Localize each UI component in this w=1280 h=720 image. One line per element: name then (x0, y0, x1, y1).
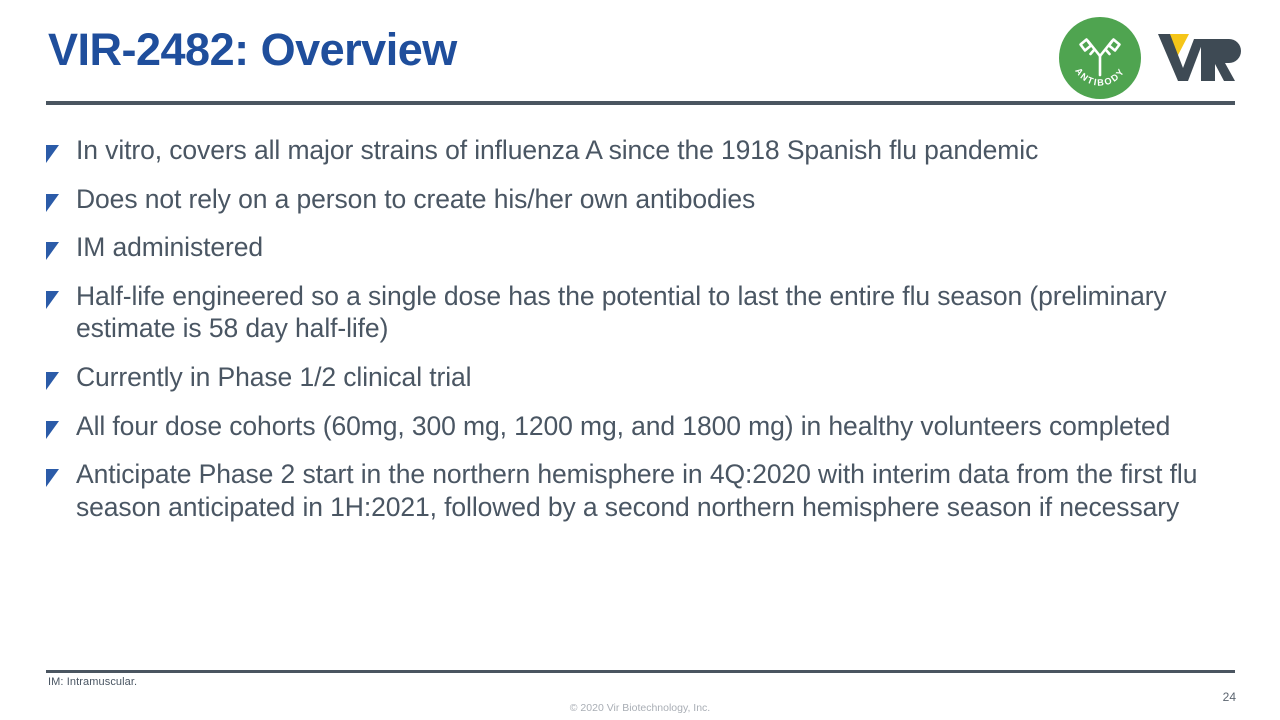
footnote-text: IM: Intramuscular. (48, 676, 137, 688)
slide-canvas: VIR-2482: Overview (0, 0, 1280, 720)
header-divider (46, 101, 1235, 105)
bullet-triangle-icon (46, 421, 62, 442)
page-title: VIR-2482: Overview (48, 26, 457, 73)
bullet-triangle-icon (46, 372, 62, 393)
footer-divider (46, 670, 1235, 673)
list-item: Currently in Phase 1/2 clinical trial (46, 361, 1236, 394)
brand-logo-lockup: ANTIBODY (1058, 16, 1238, 100)
list-item: In vitro, covers all major strains of in… (46, 134, 1236, 167)
bullet-triangle-icon (46, 291, 62, 312)
list-item: All four dose cohorts (60mg, 300 mg, 120… (46, 410, 1236, 443)
list-item: Anticipate Phase 2 start in the northern… (46, 458, 1236, 523)
bullet-list: In vitro, covers all major strains of in… (46, 134, 1236, 539)
bullet-triangle-icon (46, 469, 62, 490)
antibody-badge-icon: ANTIBODY (1058, 16, 1142, 100)
list-item-text: Half-life engineered so a single dose ha… (76, 280, 1236, 345)
vir-wordmark-icon (1156, 32, 1241, 82)
list-item: Half-life engineered so a single dose ha… (46, 280, 1236, 345)
bullet-triangle-icon (46, 145, 62, 166)
list-item-text: In vitro, covers all major strains of in… (76, 134, 1236, 167)
list-item: IM administered (46, 231, 1236, 264)
copyright-text: © 2020 Vir Biotechnology, Inc. (0, 702, 1280, 714)
list-item-text: IM administered (76, 231, 1236, 264)
bullet-triangle-icon (46, 242, 62, 263)
list-item-text: Anticipate Phase 2 start in the northern… (76, 458, 1236, 523)
bullet-triangle-icon (46, 194, 62, 215)
list-item: Does not rely on a person to create his/… (46, 183, 1236, 216)
page-number: 24 (1223, 690, 1236, 704)
list-item-text: Currently in Phase 1/2 clinical trial (76, 361, 1236, 394)
list-item-text: All four dose cohorts (60mg, 300 mg, 120… (76, 410, 1236, 443)
list-item-text: Does not rely on a person to create his/… (76, 183, 1236, 216)
